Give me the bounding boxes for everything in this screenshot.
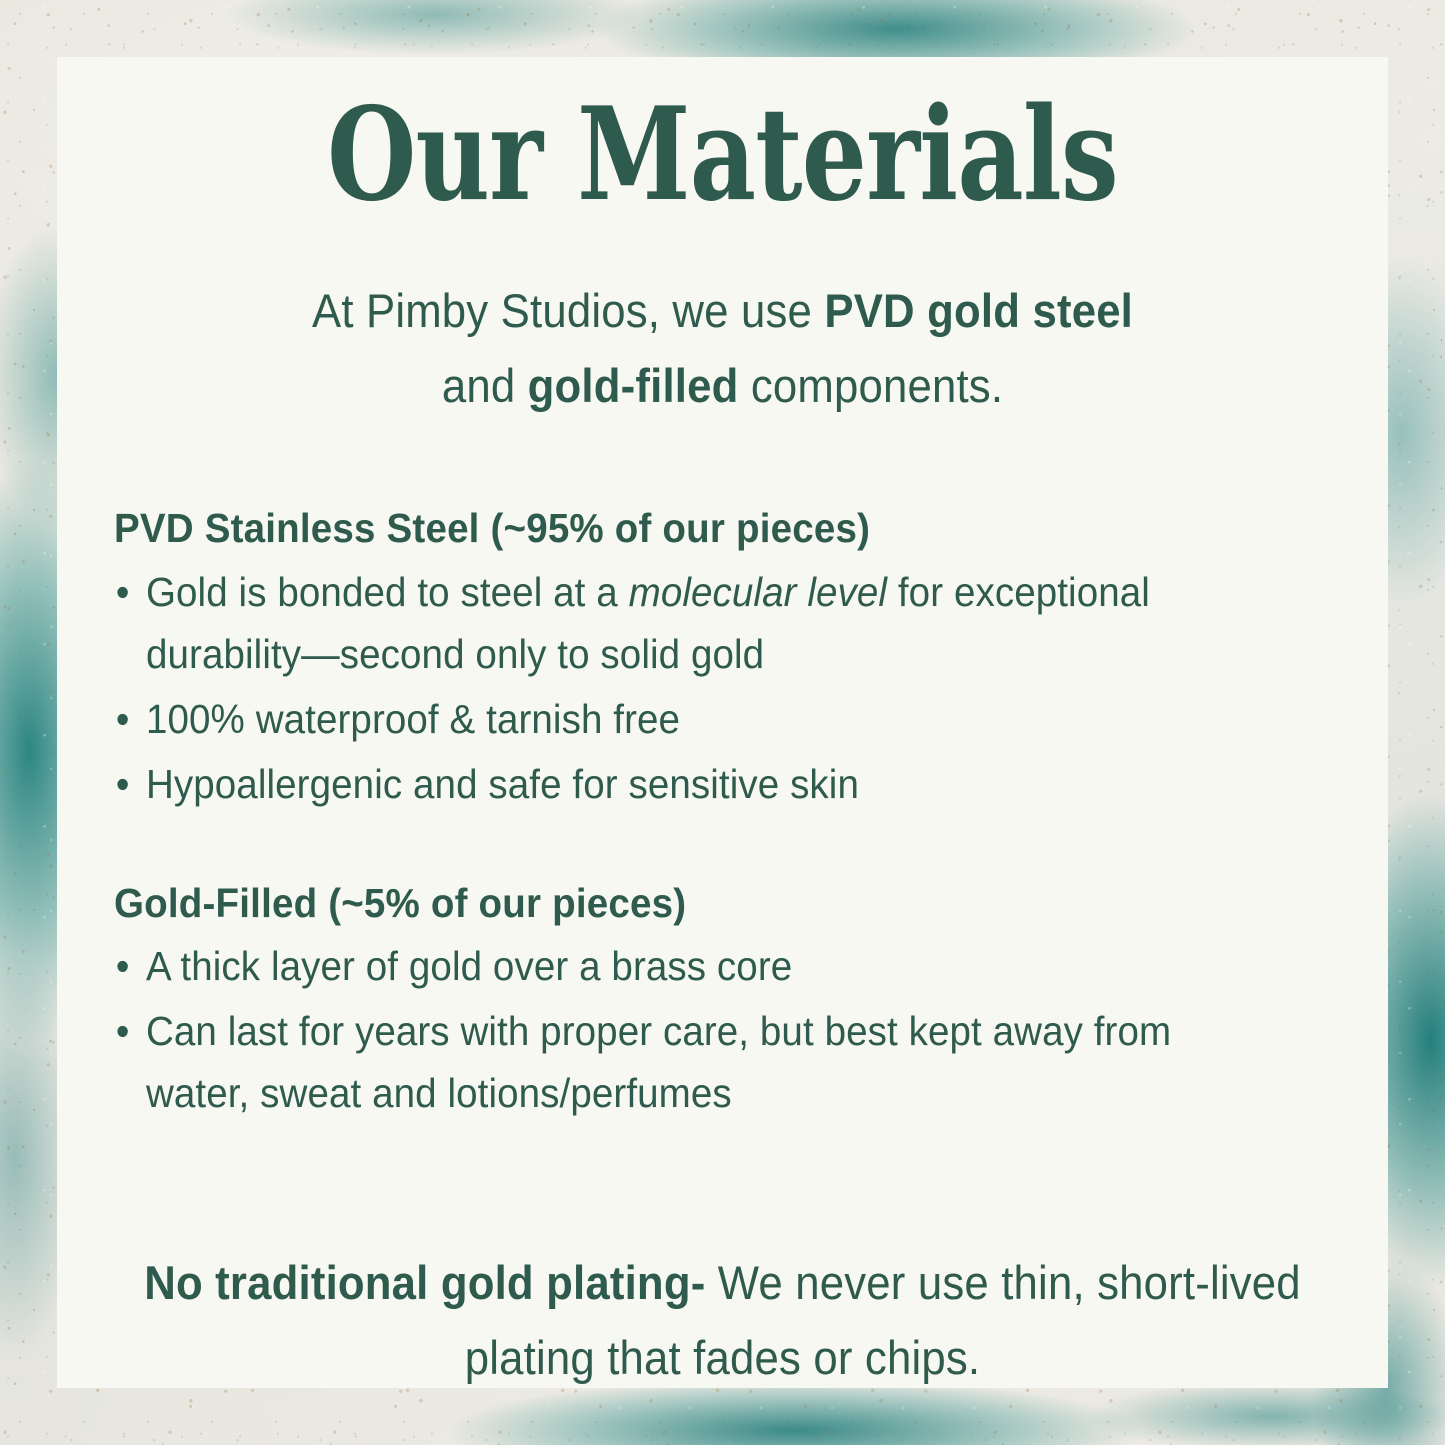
section-heading-pvd: PVD Stainless Steel (~95% of our pieces): [114, 501, 1276, 556]
section-gold-filled: Gold-Filled (~5% of our pieces) A thick …: [85, 818, 1360, 1126]
section-pvd-stainless-steel: PVD Stainless Steel (~95% of our pieces)…: [85, 423, 1360, 815]
intro-line1-text: At Pimby Studios, we use: [312, 284, 824, 337]
list-item: A thick layer of gold over a brass core: [114, 935, 1276, 998]
content-card: Our Materials At Pimby Studios, we use P…: [57, 57, 1388, 1388]
bullet-list-gold-filled: A thick layer of gold over a brass core …: [114, 935, 1350, 1125]
intro-line2-tail: components.: [739, 359, 1004, 412]
intro-line2-text: and: [442, 359, 528, 412]
bullet-text-before: Hypoallergenic and safe for sensitive sk…: [146, 761, 859, 807]
list-item: Hypoallergenic and safe for sensitive sk…: [114, 753, 1276, 816]
bullet-text-before: Can last for years with proper care, but…: [146, 1008, 1171, 1117]
bullet-text-italic: molecular level: [629, 569, 887, 615]
poster-canvas: Our Materials At Pimby Studios, we use P…: [0, 0, 1445, 1445]
closing-paragraph: No traditional gold plating- We never us…: [130, 1127, 1316, 1388]
list-item: Can last for years with proper care, but…: [114, 1000, 1276, 1125]
list-item: 100% waterproof & tarnish free: [114, 688, 1276, 751]
bullet-list-pvd: Gold is bonded to steel at a molecular l…: [114, 561, 1350, 816]
closing-emphasis: No traditional gold plating-: [144, 1256, 705, 1309]
bullet-text-before: A thick layer of gold over a brass core: [146, 943, 792, 989]
section-heading-gold-filled: Gold-Filled (~5% of our pieces): [114, 876, 1276, 931]
intro-paragraph: At Pimby Studios, we use PVD gold steel …: [130, 219, 1316, 423]
page-title: Our Materials: [213, 57, 1233, 219]
list-item: Gold is bonded to steel at a molecular l…: [114, 561, 1276, 686]
bullet-text-before: 100% waterproof & tarnish free: [146, 696, 680, 742]
intro-line1-emphasis: PVD gold steel: [824, 284, 1133, 337]
bullet-text-before: Gold is bonded to steel at a: [146, 569, 629, 615]
intro-line2-emphasis: gold-filled: [528, 359, 739, 412]
